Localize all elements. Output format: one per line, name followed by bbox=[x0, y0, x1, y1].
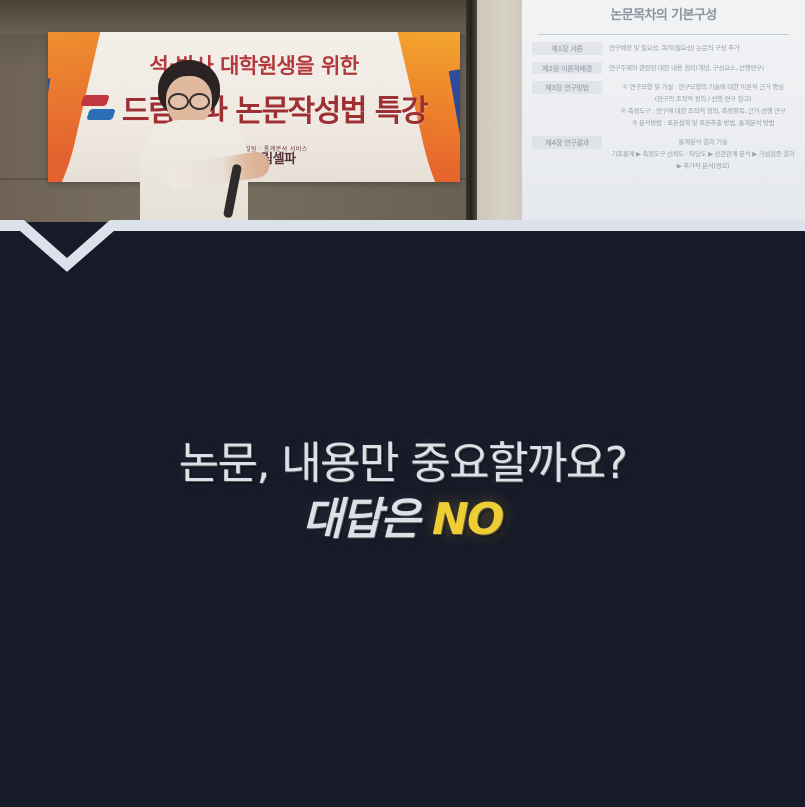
projector-screen: 논문목차의 기본구성 제1장 서론 연구배경 및 필요성, 목적(필요성) 논문… bbox=[522, 0, 805, 232]
slide-row-label: 제1장 서론 bbox=[532, 42, 602, 55]
slide-row-line: 연구주제와 관련된 대한 내용 정리(개념, 구성요소, 선행연구) bbox=[609, 64, 764, 72]
slide-title: 논문목차의 기본구성 bbox=[522, 4, 805, 23]
headline-line-1: 논문, 내용만 중요할까요? bbox=[0, 437, 805, 491]
slide-row: 제1장 서론 연구배경 및 필요성, 목적(필요성) 논문의 구성 추가 bbox=[532, 42, 797, 55]
slide-row: 제2장 이론적배경 연구주제와 관련된 대한 내용 정리(개념, 구성요소, 선… bbox=[532, 62, 797, 75]
headline-block: 논문, 내용만 중요할까요? 대답은 NO bbox=[0, 437, 805, 546]
lecture-photo: 석·박사 대학원생을 위한 드림셀파 논문작성법 특강 노문컨설팅 · 통계분석… bbox=[0, 0, 805, 235]
slide-row-label: 제2장 이론적배경 bbox=[532, 62, 602, 75]
slide-divider bbox=[538, 34, 789, 35]
wall-column bbox=[477, 0, 522, 235]
slide-table: 제1장 서론 연구배경 및 필요성, 목적(필요성) 논문의 구성 추가 제2장… bbox=[532, 42, 797, 179]
slide-row-body: 연구배경 및 필요성, 목적(필요성) 논문의 구성 추가 bbox=[609, 42, 797, 54]
slide-row: 제4장 연구결과 통계분석 결과 기술 기초통계 ▶ 측정도구 신뢰도 · 타당… bbox=[532, 136, 797, 172]
slide-row-line: 연구배경 및 필요성, 목적(필요성) 논문의 구성 추가 bbox=[609, 44, 739, 52]
speaker-glasses-icon bbox=[168, 93, 210, 106]
slide-row-line: (연구의 조작적 정의 / 선행 연구 참고) bbox=[609, 93, 797, 105]
slide-row-label: 제3장 연구방법 bbox=[532, 81, 602, 94]
slide-row-body: 연구주제와 관련된 대한 내용 정리(개념, 구성요소, 선행연구) bbox=[609, 62, 797, 74]
promo-card: 석·박사 대학원생을 위한 드림셀파 논문작성법 특강 노문컨설팅 · 통계분석… bbox=[0, 0, 805, 807]
speaker-figure bbox=[110, 60, 290, 235]
headline-line-2: 대답은 NO bbox=[0, 493, 805, 547]
headline-line-2-prefix: 대답은 bbox=[302, 494, 432, 545]
slide-row-body: 통계분석 결과 기술 기초통계 ▶ 측정도구 신뢰도 · 타당도 ▶ 상관관계 … bbox=[609, 136, 797, 172]
slide-row-line: ③ 분석방법 : 표본설계 및 표본추출 방법, 통계분석 방법 bbox=[609, 117, 797, 129]
headline-answer-no: NO bbox=[432, 494, 503, 545]
wall-door-frame bbox=[466, 0, 477, 235]
slide-row-label: 제4장 연구결과 bbox=[532, 136, 602, 149]
slide-row: 제3장 연구방법 ① 연구모형 및 가설 : 연구모형의 기술에 대한 이론적 … bbox=[532, 81, 797, 129]
slide-row-line: 기초통계 ▶ 측정도구 신뢰도 · 타당도 ▶ 상관관계 분석 ▶ 가설검증 결… bbox=[609, 148, 797, 172]
slide-row-line: ① 연구모형 및 가설 : 연구모형의 기술에 대한 이론적 근거 중심 bbox=[609, 81, 797, 93]
slide-row-line: ② 측정도구 : 연구에 대한 조작적 정의, 측정항목, 근거 선행 연구 bbox=[609, 105, 797, 117]
slide-row-line: 통계분석 결과 기술 bbox=[609, 136, 797, 148]
slide-row-body: ① 연구모형 및 가설 : 연구모형의 기술에 대한 이론적 근거 중심 (연구… bbox=[609, 81, 797, 129]
